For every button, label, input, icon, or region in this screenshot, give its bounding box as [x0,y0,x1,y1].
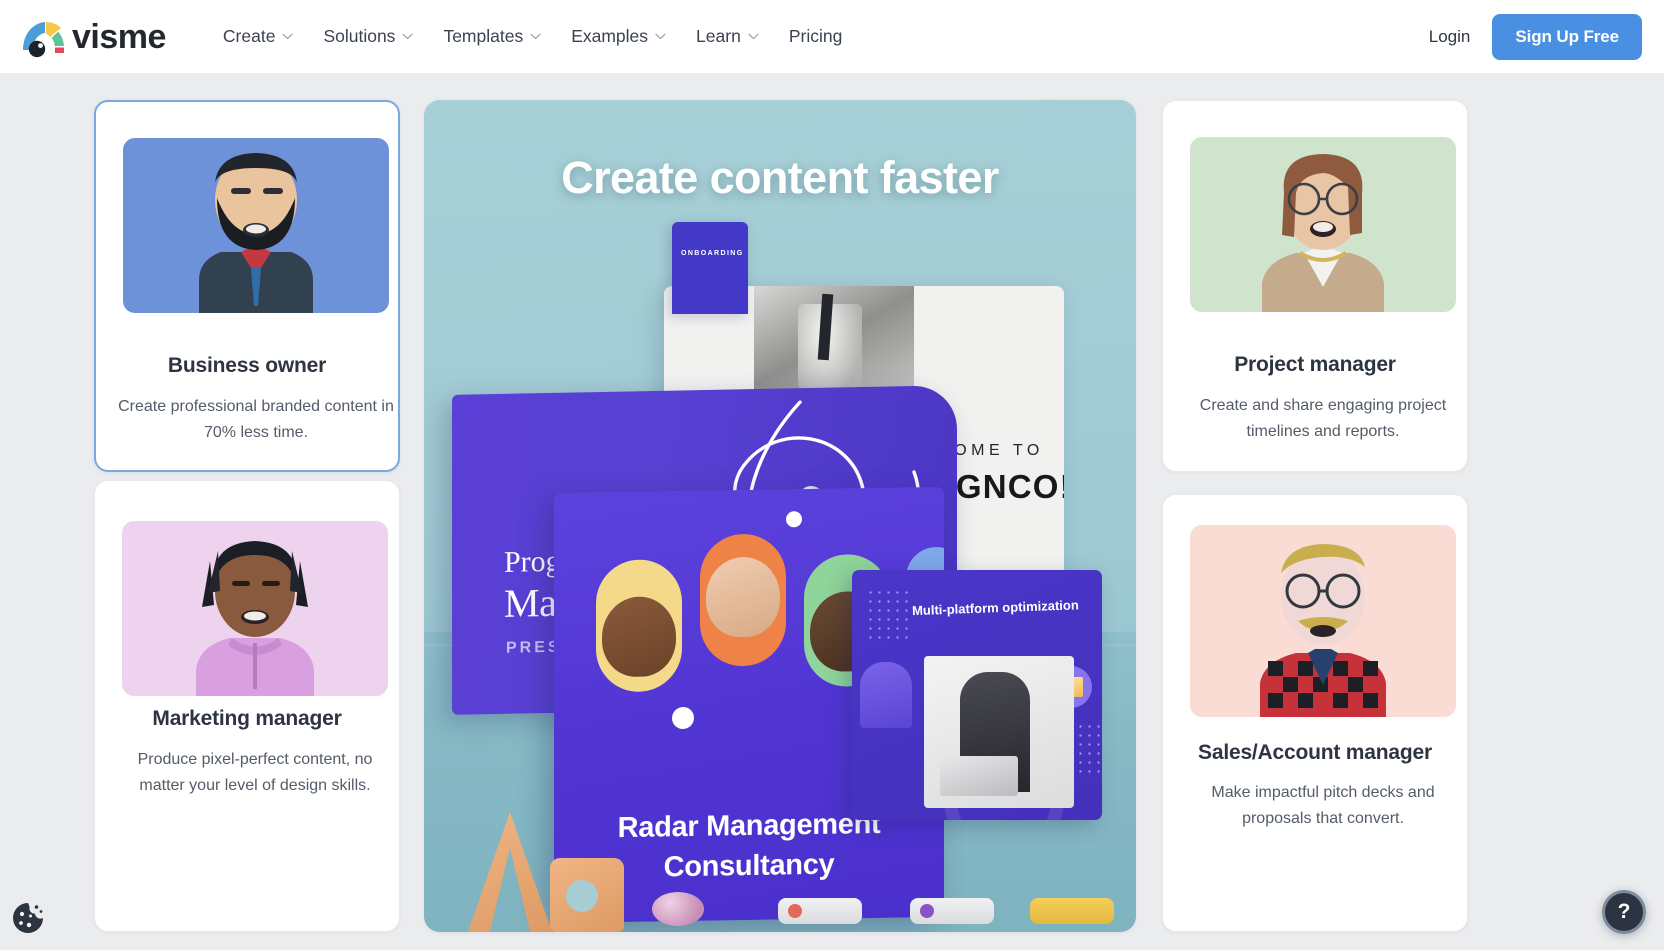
nav-item-pricing[interactable]: Pricing [774,18,858,55]
login-link[interactable]: Login [1407,17,1493,57]
nav-label: Learn [696,26,741,47]
nav-item-templates[interactable]: Templates [428,18,556,55]
visme-fan-logo-icon [20,16,66,58]
help-button[interactable]: ? [1602,890,1646,934]
cookie-consent-icon [10,900,46,936]
chevron-down-icon [655,33,666,40]
signup-free-button[interactable]: Sign Up Free [1492,14,1642,60]
team-pill-yellow [596,559,682,692]
role-card-project-manager[interactable]: Project manager Create and share engagin… [1162,100,1468,472]
card-description: Create professional branded content in 7… [118,394,394,446]
card-title: Marketing manager [95,707,399,731]
card-description: Create and share engaging project timeli… [1185,393,1461,445]
dot-grid-decor [866,588,910,644]
nav-item-solutions[interactable]: Solutions [308,18,428,55]
hero-title: Create content faster [424,152,1136,204]
chevron-down-icon [282,33,293,40]
chevron-down-icon [402,33,413,40]
nav-item-examples[interactable]: Examples [556,18,681,55]
sales-manager-avatar [1238,525,1408,717]
nav-item-learn[interactable]: Learn [681,18,774,55]
button-prop-yellow [1030,898,1114,924]
nav-label: Create [223,26,276,47]
chevron-down-icon [748,33,759,40]
marketing-manager-avatar [170,521,340,696]
header-actions: Login Sign Up Free [1407,14,1642,60]
sphere-floor-prop [652,892,704,926]
project-manager-thumbnail [1190,137,1456,312]
letter-a-lower-prop [550,858,624,932]
nav-item-create[interactable]: Create [208,18,309,55]
visme-logo[interactable]: visme [20,16,166,58]
slide-multi-platform: Multi-platform optimization [852,570,1102,820]
laptop-icon [940,756,1018,796]
card-description: Produce pixel-perfect content, no matter… [117,747,393,799]
role-card-marketing-manager[interactable]: Marketing manager Produce pixel-perfect … [94,480,400,932]
chevron-down-icon [530,33,541,40]
dot-accent [672,707,694,729]
nav-label: Pricing [789,26,843,47]
nav-label: Examples [571,26,648,47]
team-pill-orange [700,533,786,666]
role-card-business-owner[interactable]: Business owner Create professional brand… [94,100,400,472]
site-header: visme Create Solutions Templates Example… [0,0,1664,74]
person-avatar-prop [860,662,912,728]
hero-panel[interactable]: Create content faster WELCOME TO DESIGNC… [424,100,1136,932]
logo-wordmark: visme [72,20,166,54]
laptop-photo [924,656,1074,808]
project-manager-avatar [1238,137,1408,312]
multiplatform-label: Multi-platform optimization [912,595,1093,621]
cookie-consent-button[interactable] [10,900,46,936]
role-card-sales-account-manager[interactable]: Sales/Account manager Make impactful pit… [1162,494,1468,932]
card-title: Project manager [1163,353,1467,377]
onboarding-label: ONBOARDING [681,250,744,257]
marketing-manager-thumbnail [122,521,388,696]
dot-accent [786,511,802,527]
nav-label: Templates [443,26,523,47]
main-navigation: Create Solutions Templates Examples Lear… [208,18,857,55]
card-description: Make impactful pitch decks and proposals… [1185,780,1461,832]
card-title: Business owner [96,354,398,378]
card-title: Sales/Account manager [1163,741,1467,765]
slide-onboarding: ONBOARDING [672,222,748,314]
business-owner-avatar [171,138,341,313]
page-body: Business owner Create professional brand… [0,74,1664,950]
sales-manager-thumbnail [1190,525,1456,717]
button-prop-red [778,898,862,924]
business-owner-thumbnail [123,138,389,313]
button-prop-purple [910,898,994,924]
nav-label: Solutions [323,26,395,47]
